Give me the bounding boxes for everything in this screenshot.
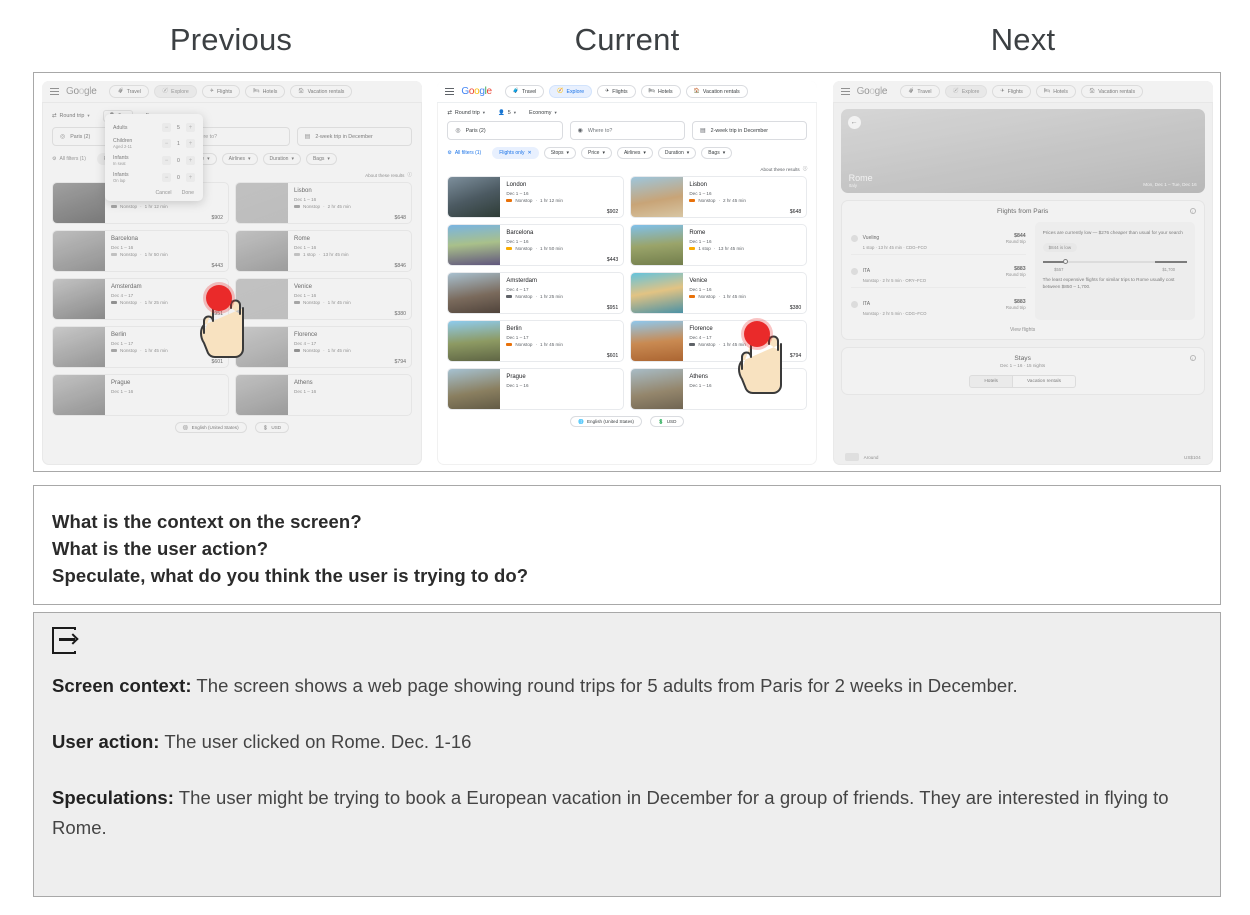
language-chip[interactable]: 🌐English (United States): [175, 422, 247, 433]
page-root: Previous Current Next Google 🧳Travel 🧭Ex…: [0, 0, 1250, 915]
destination-stops: Nonstop · 1 hr 25 min: [506, 294, 618, 299]
destination-city: Athens: [689, 373, 801, 381]
destination-dates: Dec 1 – 16: [689, 239, 801, 244]
results-note: About these resultsⓘ: [42, 170, 422, 182]
price-insight-note: The least expensive flights for similar …: [1043, 276, 1187, 290]
destination-grid: London Dec 1 – 16 Nonstop · 1 hr 12 min …: [437, 176, 817, 410]
search-controls: ⇄ Round trip ▾ 👤 5 ▾ Economy ▾: [42, 103, 422, 127]
destination-city: Rome: [689, 229, 801, 237]
destination-price: $601: [607, 353, 619, 359]
hamburger-icon[interactable]: [50, 88, 59, 95]
nav-chip-hotels[interactable]: 🛏Hotels: [641, 85, 681, 98]
destination-dates: Dec 4 – 17: [294, 341, 406, 346]
destination-card[interactable]: Venice Dec 1 – 16 Nonstop · 1 hr 45 min …: [235, 278, 412, 320]
location-dot-icon: ◎: [60, 133, 65, 140]
destination-price: $648: [394, 215, 406, 221]
question-box: What is the context on the screen? What …: [33, 485, 1221, 605]
nav-chip-hotels[interactable]: 🛏Hotels: [245, 85, 285, 98]
destination-stops: Nonstop · 1 hr 45 min: [111, 348, 223, 353]
destination-stops: Nonstop · 1 hr 45 min: [689, 342, 801, 347]
search-controls: ⇄ Round trip ▾ 👤 5 ▾ Economy ▾: [437, 103, 817, 121]
destination-stops: Nonstop · 1 hr 45 min: [294, 300, 406, 305]
stays-section: i Stays Dec 1 – 16 · 15 nights Hotels Va…: [841, 347, 1205, 395]
hotel-price: US$104: [1184, 455, 1201, 460]
destination-stops: Nonstop · 1 hr 12 min: [506, 198, 618, 203]
destination-stops: 1 stop · 13 hr 45 min: [689, 246, 801, 251]
increment-button[interactable]: +: [186, 156, 195, 165]
destination-city: Prague: [506, 373, 618, 381]
all-filters-button[interactable]: ⚙ All filters (1): [447, 147, 487, 159]
flight-airline: Vueling: [863, 235, 880, 241]
destination-stops: Nonstop · 1 hr 45 min: [294, 348, 406, 353]
destination-price: $846: [394, 263, 406, 269]
hotel-name: Around: [864, 455, 879, 460]
filter-chip-stops[interactable]: Stops ▾: [544, 147, 576, 159]
destination-city: Athens: [294, 379, 406, 387]
passenger-row-children: Children Aged 2-11 − 1 +: [105, 135, 203, 152]
destination-city: Lisbon: [294, 187, 406, 195]
destination-price: $443: [211, 263, 223, 269]
destination-price: $380: [790, 305, 802, 311]
destination-city: Berlin: [506, 325, 618, 333]
search-fields: ◎Paris (2) ◉Where to? ▤2-week trip in De…: [437, 121, 817, 140]
info-icon[interactable]: i: [1190, 355, 1196, 361]
destination-card[interactable]: Amsterdam Dec 4 – 17 Nonstop · 1 hr 25 m…: [52, 278, 229, 320]
hamburger-icon[interactable]: [841, 88, 850, 95]
destination-dates: Dec 1 – 16: [689, 287, 801, 292]
close-icon[interactable]: ✕: [528, 150, 532, 156]
plane-icon: ✈: [605, 89, 609, 94]
suitcase-icon: 🧳: [513, 89, 519, 94]
destination-stops: 1 stop · 13 hr 45 min: [294, 252, 406, 257]
bed-icon: 🛏: [1044, 89, 1050, 94]
price-range-slider[interactable]: [1043, 258, 1187, 266]
chevron-down-icon: ▾: [483, 110, 485, 116]
price-low-badge: $844 is low: [1043, 243, 1078, 252]
bed-icon: 🛏: [649, 89, 655, 94]
destination-city: Barcelona: [111, 235, 223, 243]
destination-card[interactable]: Florence Dec 4 – 17 Nonstop · 1 hr 45 mi…: [630, 320, 807, 362]
destination-dates: Dec 1 – 16: [111, 245, 223, 250]
hamburger-icon[interactable]: [445, 88, 454, 95]
destination-dates: Dec 4 – 17: [689, 335, 801, 340]
destination-price: $902: [211, 215, 223, 221]
filter-chip-duration[interactable]: Duration ▾: [263, 153, 301, 165]
destination-card[interactable]: Barcelona Dec 1 – 16 Nonstop · 1 hr 50 m…: [52, 230, 229, 272]
destination-card[interactable]: Amsterdam Dec 4 – 17 Nonstop · 1 hr 25 m…: [447, 272, 624, 314]
destination-price: $794: [790, 353, 802, 359]
filter-chip-airlines[interactable]: Airlines ▾: [617, 147, 653, 159]
destination-card[interactable]: Lisbon Dec 1 – 16 Nonstop · 2 hr 45 min …: [630, 176, 807, 218]
nav-chip-vacation-rentals[interactable]: 🏠Vacation rentals: [290, 85, 352, 98]
flights-section: i Flights from Paris Vueling 1 stop · 13…: [841, 200, 1205, 340]
all-filters-button[interactable]: ⚙ All filters (1): [52, 153, 92, 165]
search-fields: ◎Paris (2) ◉Where to? ▤2-week trip in De…: [42, 127, 422, 146]
passenger-value: 1: [176, 141, 181, 147]
google-header-bar: Google 🧳Travel 🧭Explore ✈Flights 🛏Hotels…: [437, 81, 817, 103]
hero-dates: Mon, Dec 1 – Tue, Dec 16: [1143, 182, 1196, 187]
passenger-done-button[interactable]: Done: [182, 190, 194, 196]
flight-type: Round trip: [1006, 305, 1026, 310]
answer-label-screen-context: Screen context:: [52, 675, 192, 696]
destination-card[interactable]: London Dec 1 – 16 Nonstop · 1 hr 12 min …: [447, 176, 624, 218]
answer-text-speculations: The user might be trying to book a Europ…: [52, 787, 1169, 838]
nav-chip-vacation-rentals[interactable]: 🏠Vacation rentals: [686, 85, 748, 98]
destination-price: $601: [211, 359, 223, 365]
destination-thumbnail: [631, 177, 683, 218]
passenger-sublabel: Aged 2-11: [113, 144, 156, 149]
calendar-icon: ▤: [700, 127, 706, 134]
screenshot-filmstrip: Google 🧳Travel 🧭Explore ✈Flights 🛏Hotels…: [33, 72, 1221, 472]
filter-chip-airlines[interactable]: Airlines ▾: [222, 153, 258, 165]
nav-chip-flights[interactable]: ✈Flights: [202, 85, 240, 98]
house-icon: 🏠: [298, 89, 304, 94]
destination-price: $443: [607, 257, 619, 263]
destination-price: $902: [607, 209, 619, 215]
increment-button[interactable]: +: [186, 173, 195, 182]
destination-dates: Dec 1 – 16: [294, 389, 406, 394]
filter-chip-flights-only[interactable]: Flights only ✕: [492, 147, 539, 159]
destination-dates: Dec 1 – 16: [689, 191, 801, 196]
destination-thumbnail: [236, 279, 288, 320]
money-icon: 💲: [263, 425, 269, 431]
passenger-dropdown[interactable]: Adults − 5 + Children Aged 2-11: [105, 114, 203, 201]
nav-chip-hotels[interactable]: 🛏Hotels: [1036, 85, 1076, 98]
question-line-3: Speculate, what do you think the user is…: [52, 562, 1202, 589]
trip-type-select[interactable]: ⇄ Round trip ▾: [447, 110, 485, 116]
nav-chips: 🧳Travel 🧭Explore ✈Flights 🛏Hotels 🏠Vacat…: [505, 85, 748, 98]
bed-icon: 🛏: [253, 89, 259, 94]
passenger-label: Adults: [113, 125, 156, 131]
dates-input[interactable]: ▤2-week trip in December: [297, 127, 412, 146]
stage-header-current: Current: [429, 18, 825, 68]
destination-dates: Dec 1 – 16: [294, 197, 406, 202]
house-icon: 🏠: [694, 89, 700, 94]
flight-airline: ITA: [863, 268, 870, 274]
destination-city: Berlin: [111, 331, 223, 339]
answer-box: Screen context: The screen shows a web p…: [33, 612, 1221, 897]
stage-header-previous: Previous: [33, 18, 429, 68]
filter-chip-bags[interactable]: Bags ▾: [701, 147, 732, 159]
info-icon[interactable]: ⓘ: [407, 172, 412, 178]
panel-next: Google 🧳Travel 🧭Explore ✈Flights 🛏Hotels…: [825, 73, 1220, 470]
passenger-row-infants-in-seat: Infants In seat − 0 +: [105, 152, 203, 169]
destination-dates: Dec 1 – 16: [689, 383, 801, 388]
plane-icon: ✈: [1000, 89, 1004, 94]
dates-input[interactable]: ▤2-week trip in December: [692, 121, 807, 140]
nav-chip-travel[interactable]: 🧳Travel: [900, 85, 939, 98]
view-flights-button[interactable]: View flights: [851, 327, 1195, 333]
info-icon[interactable]: i: [1190, 208, 1196, 214]
destination-stops: Nonstop · 1 hr 25 min: [111, 300, 223, 305]
destination-card[interactable]: Athens Dec 1 – 16: [235, 374, 412, 416]
destination-dates: Dec 1 – 16: [506, 239, 618, 244]
origin-input[interactable]: ◎Paris (2): [447, 121, 562, 140]
explore-icon: 🧭: [953, 89, 959, 94]
nav-chip-flights[interactable]: ✈Flights: [597, 85, 635, 98]
explore-icon: 🧭: [162, 89, 168, 94]
destination-dates: Dec 1 – 17: [506, 335, 618, 340]
destination-dates: Dec 1 – 17: [111, 341, 223, 346]
flight-row[interactable]: ITA Nonstop · 2 hr 5 min · CDG–FCO $883 …: [851, 288, 1026, 320]
destination-thumbnail: [448, 177, 500, 218]
decrement-button[interactable]: −: [162, 173, 171, 182]
destination-card[interactable]: Venice Dec 1 – 16 Nonstop · 1 hr 45 min …: [630, 272, 807, 314]
answer-label-speculations: Speculations:: [52, 787, 174, 808]
destination-dates: Dec 4 – 17: [506, 287, 618, 292]
plane-icon: ✈: [210, 89, 214, 94]
nav-chip-vacation-rentals[interactable]: 🏠Vacation rentals: [1081, 85, 1143, 98]
destination-thumbnail: [631, 321, 683, 362]
browser-window-previous: Google 🧳Travel 🧭Explore ✈Flights 🛏Hotels…: [42, 81, 422, 465]
question-line-2: What is the user action?: [52, 535, 1202, 562]
destination-dates: Dec 4 – 17: [111, 293, 223, 298]
destination-card[interactable]: Florence Dec 4 – 17 Nonstop · 1 hr 45 mi…: [235, 326, 412, 368]
trip-type-select[interactable]: ⇄ Round trip ▾: [52, 113, 90, 119]
destination-price: $794: [394, 359, 406, 365]
destination-thumbnail: [631, 225, 683, 266]
destination-card[interactable]: Prague Dec 1 – 16: [52, 374, 229, 416]
hero-country: Italy: [849, 183, 873, 188]
answer-speculations: Speculations: The user might be trying t…: [52, 783, 1202, 843]
suitcase-icon: 🧳: [908, 89, 914, 94]
destination-city: Rome: [294, 235, 406, 243]
destination-thumbnail: [53, 183, 105, 224]
calendar-icon: ▤: [305, 133, 311, 140]
decrement-button[interactable]: −: [162, 123, 171, 132]
destination-stops: Nonstop · 1 hr 12 min: [111, 204, 223, 209]
destination-card[interactable]: Berlin Dec 1 – 17 Nonstop · 1 hr 45 min …: [447, 320, 624, 362]
destination-thumbnail: [448, 321, 500, 362]
destination-stops: Nonstop · 2 hr 45 min: [294, 204, 406, 209]
destination-stops: Nonstop · 1 hr 45 min: [689, 294, 801, 299]
decrement-button[interactable]: −: [162, 139, 171, 148]
destination-dates: Dec 1 – 16: [294, 293, 406, 298]
destination-thumbnail: [236, 231, 288, 272]
airline-logo-icon: [851, 235, 858, 242]
filter-chip-price[interactable]: Price ▾: [581, 147, 612, 159]
tab-vacation-rentals[interactable]: Vacation rentals: [1013, 375, 1076, 388]
increment-button[interactable]: +: [186, 123, 195, 132]
chevron-down-icon: ▾: [87, 113, 89, 119]
currency-chip[interactable]: 💲USD: [650, 416, 684, 427]
destination-hero: ← Rome Italy Mon, Dec 1 – Tue, Dec 16: [841, 109, 1205, 193]
nav-chip-explore[interactable]: 🧭Explore: [945, 85, 988, 98]
destination-thumbnail: [448, 273, 500, 314]
google-header-bar: Google 🧳Travel 🧭Explore ✈Flights 🛏Hotels…: [42, 81, 422, 103]
destination-city: London: [506, 181, 618, 189]
export-arrow-icon: [52, 627, 77, 655]
destination-city: Venice: [689, 277, 801, 285]
decrement-button[interactable]: −: [162, 156, 171, 165]
answer-user-action: User action: The user clicked on Rome. D…: [52, 727, 1202, 757]
passenger-row-infants-on-lap: Infants On lap − 0 +: [105, 169, 203, 186]
destination-dates: Dec 1 – 16: [111, 389, 223, 394]
google-logo: Google: [66, 86, 96, 97]
flight-detail: Nonstop · 2 hr 5 min · ORY–FCO: [863, 278, 1001, 283]
destination-thumbnail: [53, 327, 105, 368]
answer-label-user-action: User action:: [52, 731, 160, 752]
destination-price: $951: [607, 305, 619, 311]
google-header-bar: Google 🧳Travel 🧭Explore ✈Flights 🛏Hotels…: [833, 81, 1213, 103]
slider-high-label: $1,700: [1162, 267, 1175, 272]
nav-chip-flights[interactable]: ✈Flights: [992, 85, 1030, 98]
google-logo: Google: [461, 86, 491, 97]
question-line-1: What is the context on the screen?: [52, 508, 1202, 535]
panel-previous: Google 🧳Travel 🧭Explore ✈Flights 🛏Hotels…: [34, 73, 429, 470]
destination-thumbnail: [53, 231, 105, 272]
destination-city: Florence: [689, 325, 801, 333]
passenger-sublabel: On lap: [113, 178, 156, 183]
globe-icon: 🌐: [183, 425, 189, 431]
destination-thumbnail: [236, 375, 288, 416]
destination-card[interactable]: Barcelona Dec 1 – 16 Nonstop · 1 hr 50 m…: [447, 224, 624, 266]
answer-text-screen-context: The screen shows a web page showing roun…: [192, 675, 1018, 696]
nav-chips: 🧳Travel 🧭Explore ✈Flights 🛏Hotels 🏠Vacat…: [109, 85, 352, 98]
passenger-value: 5: [176, 125, 181, 131]
passenger-value: 0: [176, 175, 181, 181]
browser-window-next: Google 🧳Travel 🧭Explore ✈Flights 🛏Hotels…: [833, 81, 1213, 465]
back-arrow-icon[interactable]: ←: [848, 116, 861, 129]
stage-headers: Previous Current Next: [33, 18, 1221, 68]
location-dot-icon: ◎: [455, 127, 460, 134]
passenger-sublabel: In seat: [113, 161, 156, 166]
language-chip[interactable]: 🌐English (United States): [570, 416, 642, 427]
price-insight-headline: Prices are currently low — $276 cheaper …: [1043, 229, 1187, 236]
cabin-class-select[interactable]: Economy ▾: [529, 110, 557, 116]
globe-icon: 🌐: [578, 419, 584, 425]
destination-thumbnail: [236, 327, 288, 368]
destination-card-rome[interactable]: Rome Dec 1 – 16 1 stop · 13 hr 45 min $8…: [235, 230, 412, 272]
hero-city: Rome: [849, 173, 873, 183]
destination-dates: Dec 1 – 16: [506, 191, 618, 196]
house-icon: 🏠: [1089, 89, 1095, 94]
destination-grid: London Dec 1 – 16 Nonstop · 1 hr 12 min …: [42, 182, 422, 416]
destination-thumbnail: [53, 375, 105, 416]
destination-dates: Dec 1 – 16: [294, 245, 406, 250]
destination-thumbnail: [53, 279, 105, 320]
nav-chip-explore[interactable]: 🧭Explore: [549, 85, 592, 98]
destination-city: Amsterdam: [111, 283, 223, 291]
flights-section-title: Flights from Paris: [851, 208, 1195, 215]
stage-header-next: Next: [825, 18, 1221, 68]
slider-knob[interactable]: [1063, 259, 1068, 264]
filter-row: ⚙ All filters (1) Flights only ✕ Stops ▾…: [437, 140, 817, 164]
destination-thumbnail: [631, 273, 683, 314]
destination-stops: Nonstop · 2 hr 45 min: [689, 198, 801, 203]
results-note: About these resultsⓘ: [437, 164, 817, 176]
tab-hotels[interactable]: Hotels: [969, 375, 1013, 388]
destination-card[interactable]: Prague Dec 1 – 16: [447, 368, 624, 410]
passenger-cancel-button[interactable]: Cancel: [155, 190, 171, 196]
flight-type: Round trip: [1006, 272, 1026, 277]
chevron-down-icon: ▾: [514, 110, 516, 116]
destination-thumbnail: [448, 225, 500, 266]
flight-type: Round trip: [1006, 239, 1026, 244]
next-page-footer: Around US$104: [833, 449, 1213, 465]
currency-chip[interactable]: 💲USD: [255, 422, 289, 433]
hotel-thumbnail: [845, 453, 859, 461]
destination-card[interactable]: Berlin Dec 1 – 17 Nonstop · 1 hr 45 min …: [52, 326, 229, 368]
destination-city: Barcelona: [506, 229, 618, 237]
destination-price: $951: [211, 311, 223, 317]
increment-button[interactable]: +: [186, 139, 195, 148]
passenger-value: 0: [176, 158, 181, 164]
passenger-row-adults: Adults − 5 +: [105, 120, 203, 135]
nav-chip-travel[interactable]: 🧳Travel: [505, 85, 544, 98]
destination-price: $380: [394, 311, 406, 317]
panel-current: Google 🧳Travel 🧭Explore ✈Flights 🛏Hotels…: [429, 73, 824, 470]
info-icon[interactable]: ⓘ: [803, 166, 808, 172]
destination-card[interactable]: Lisbon Dec 1 – 16 Nonstop · 2 hr 45 min …: [235, 182, 412, 224]
destination-thumbnail: [236, 183, 288, 224]
page-footer: 🌐English (United States) 💲USD: [437, 410, 817, 427]
chevron-down-icon: ▾: [554, 110, 556, 116]
destination-stops: Nonstop · 1 hr 50 min: [111, 252, 223, 257]
airline-logo-icon: [851, 301, 858, 308]
slider-low-label: $557: [1054, 267, 1063, 272]
flight-detail: Nonstop · 2 hr 5 min · CDG–FCO: [863, 311, 1001, 316]
nav-chip-travel[interactable]: 🧳Travel: [109, 85, 148, 98]
filter-chip-duration[interactable]: Duration ▾: [658, 147, 696, 159]
price-insight-card: Prices are currently low — $276 cheaper …: [1035, 222, 1195, 320]
flight-row[interactable]: ITA Nonstop · 2 hr 5 min · ORY–FCO $883 …: [851, 255, 1026, 288]
flight-row[interactable]: Vueling 1 stop · 13 hr 45 min · CDG–FCO …: [851, 222, 1026, 255]
answer-screen-context: Screen context: The screen shows a web p…: [52, 671, 1202, 701]
answer-text-user-action: The user clicked on Rome. Dec. 1-16: [160, 731, 472, 752]
destination-price: $648: [790, 209, 802, 215]
page-footer: 🌐English (United States) 💲USD: [42, 416, 422, 433]
browser-window-current: Google 🧳Travel 🧭Explore ✈Flights 🛏Hotels…: [437, 81, 817, 465]
destination-stops: Nonstop · 1 hr 45 min: [506, 342, 618, 347]
destination-city: Venice: [294, 283, 406, 291]
map-pin-icon: ◉: [578, 127, 583, 134]
destination-thumbnail: [631, 369, 683, 410]
destination-city: Amsterdam: [506, 277, 618, 285]
suitcase-icon: 🧳: [117, 89, 123, 94]
destination-dates: Dec 1 – 16: [506, 383, 618, 388]
destination-card[interactable]: Athens Dec 1 – 16: [630, 368, 807, 410]
flight-detail: 1 stop · 13 hr 45 min · CDG–FCO: [863, 245, 1001, 250]
destination-city: Prague: [111, 379, 223, 387]
nav-chip-explore[interactable]: 🧭Explore: [154, 85, 197, 98]
destination-card-rome[interactable]: Rome Dec 1 – 16 1 stop · 13 hr 45 min: [630, 224, 807, 266]
destination-thumbnail: [448, 369, 500, 410]
destination-city: Florence: [294, 331, 406, 339]
destination-city: Lisbon: [689, 181, 801, 189]
flight-list: Vueling 1 stop · 13 hr 45 min · CDG–FCO …: [851, 222, 1026, 320]
airline-logo-icon: [851, 268, 858, 275]
stays-section-title: Stays: [851, 355, 1195, 362]
stays-section-subtitle: Dec 1 – 16 · 15 nights: [851, 363, 1195, 368]
filter-row: ⚙ All filters (1) Flights only ✕ Stops ▾…: [42, 146, 422, 170]
nav-chips: 🧳Travel 🧭Explore ✈Flights 🛏Hotels 🏠Vacat…: [900, 85, 1143, 98]
explore-icon: 🧭: [557, 89, 563, 94]
passenger-select[interactable]: 👤 5 ▾: [498, 110, 516, 116]
stays-tabs: Hotels Vacation rentals: [851, 375, 1195, 388]
destination-stops: Nonstop · 1 hr 50 min: [506, 246, 618, 251]
flight-airline: ITA: [863, 301, 870, 307]
filter-chip-bags[interactable]: Bags ▾: [306, 153, 337, 165]
google-logo: Google: [857, 86, 887, 97]
destination-input[interactable]: ◉Where to?: [570, 121, 685, 140]
money-icon: 💲: [658, 419, 664, 425]
